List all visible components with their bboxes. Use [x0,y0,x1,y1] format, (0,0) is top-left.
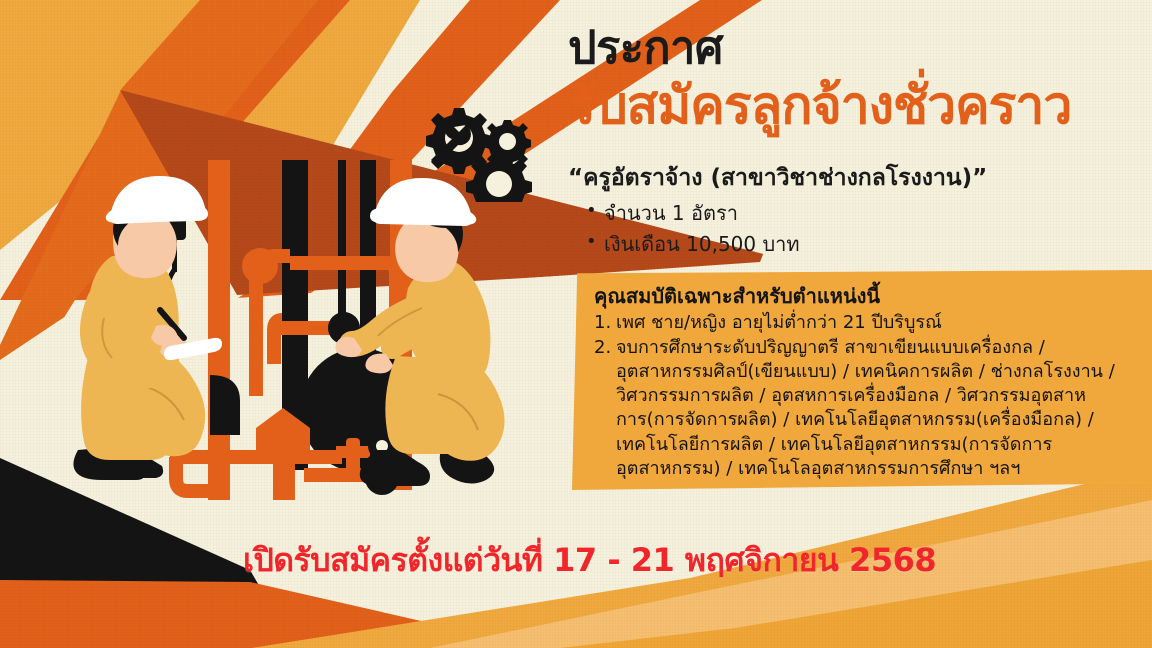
machine-pipe-knob [242,248,278,284]
position-subject: “ครูอัตราจ้าง (สาขาวิชาช่างกลโรงงาน)” [568,160,987,196]
qualifications-panel: คุณสมบัติเฉพาะสำหรับตำแหน่งนี้ เพศ ชาย/ห… [572,270,1152,490]
qualifications-title: คุณสมบัติเฉพาะสำหรับตำแหน่งนี้ [594,284,1134,309]
list-item: เงินเดือน 10,500 บาท [604,229,800,260]
list-item: จบการศึกษาระดับปริญญาตรี สาขาเขียนแบบเคร… [594,336,1134,481]
page-title-announce: ประกาศ [568,24,723,71]
worker-left [73,176,222,480]
machine-column-orange-left [208,160,230,500]
factory-workers-illustration [60,150,580,510]
gears-wrench-icon [414,98,544,202]
list-item: จำนวน 1 อัตรา [604,198,800,229]
worker-right-helmet-brim [370,208,476,225]
poster-canvas: ประกาศ รับสมัครลูกจ้างชั่วคราว “ครูอัตรา… [0,0,1152,648]
page-title-headline: รับสมัครลูกจ้างชั่วคราว [568,78,1071,134]
list-item: เพศ ชาย/หญิง อายุไม่ต่ำกว่า 21 ปีบริบูรณ… [594,311,1134,335]
machine-pod [210,375,240,435]
qualifications-list: เพศ ชาย/หญิง อายุไม่ต่ำกว่า 21 ปีบริบูรณ… [594,311,1134,481]
application-period-banner: เปิดรับสมัครตั้งแต่วันที่ 17 - 21 พฤศจิก… [0,535,1152,586]
position-details-list: จำนวน 1 อัตรา เงินเดือน 10,500 บาท [582,198,800,260]
worker-left-helmet-brim [106,206,208,223]
